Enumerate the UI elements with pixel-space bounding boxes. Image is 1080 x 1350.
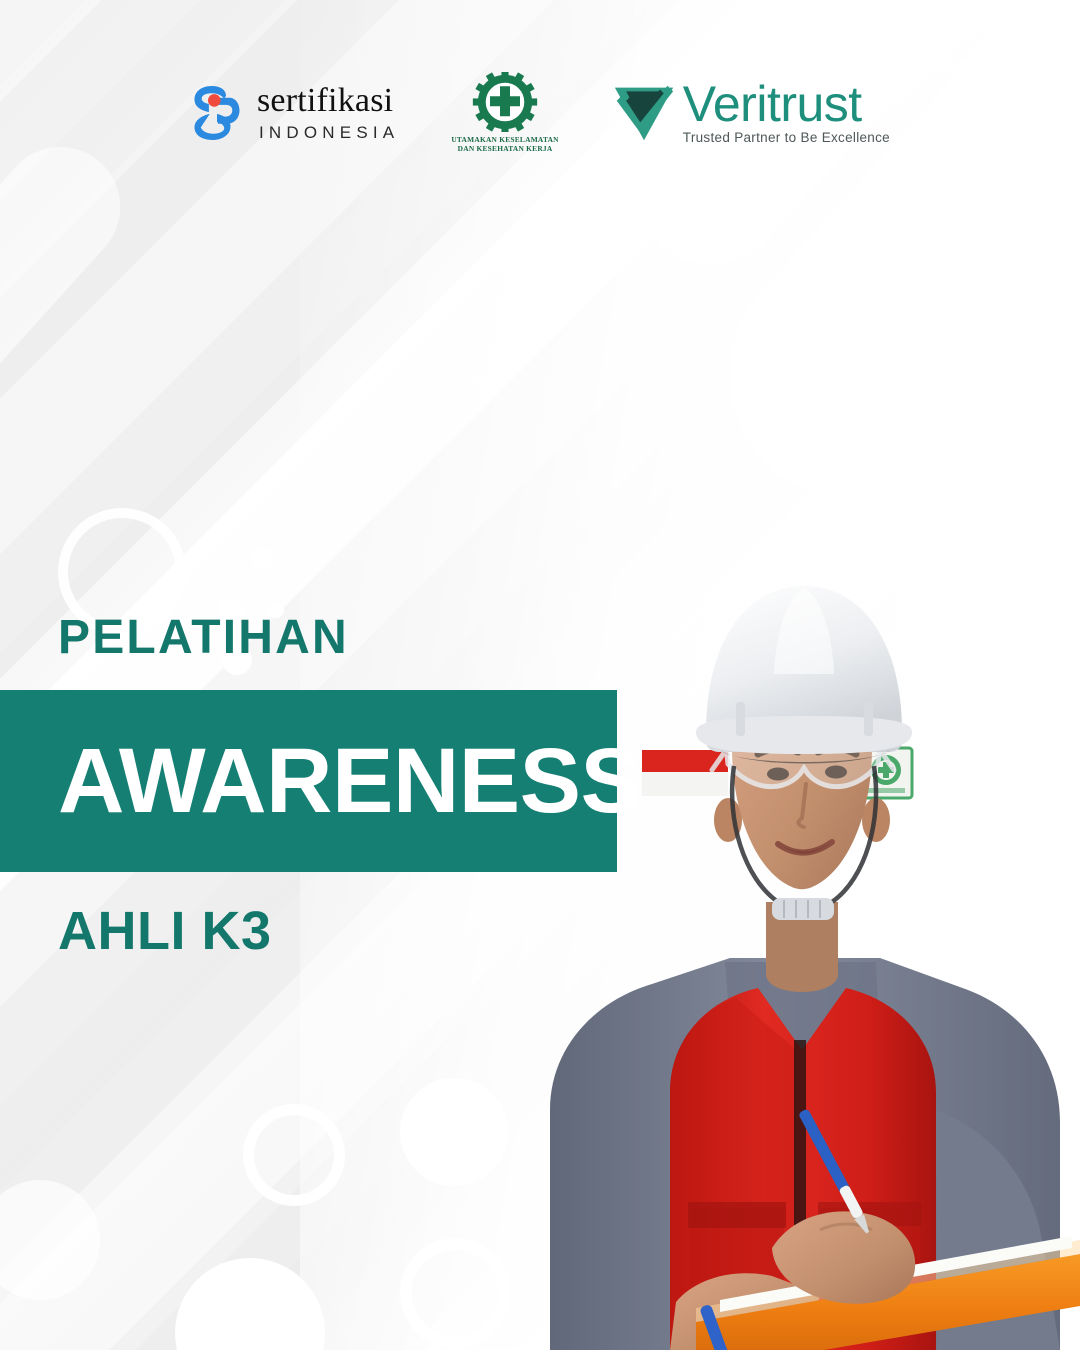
- green-title-band: AWARENESS: [0, 690, 617, 872]
- main-title: AWARENESS: [0, 735, 641, 827]
- post-title: AHLI K3: [0, 904, 1080, 958]
- logo-veritrust: Veritrust Trusted Partner to Be Excellen…: [611, 81, 890, 146]
- k3-caption: UTAMAKAN KESELAMATAN DAN KESEHATAN KERJA: [451, 135, 558, 154]
- decor-ring-bottom-1: [243, 1104, 345, 1206]
- logo-sertifikasi-indonesia: sertifikasi INDONESIA: [190, 84, 399, 142]
- headline-block: PELATIHAN AWARENESS AHLI K3: [0, 614, 1080, 958]
- k3-caption-line1: UTAMAKAN KESELAMATAN: [451, 135, 558, 144]
- s-monogram-icon: [190, 84, 244, 142]
- pre-title: PELATIHAN: [0, 614, 1080, 662]
- veritrust-wordmark: Veritrust Trusted Partner to Be Excellen…: [683, 81, 890, 146]
- decor-circle-bottom-1: [400, 1078, 508, 1186]
- sertifikasi-subtitle: INDONESIA: [257, 124, 399, 141]
- veritrust-name: Veritrust: [683, 81, 890, 129]
- decor-dot-1: [252, 548, 274, 570]
- logo-k3: UTAMAKAN KESELAMATAN DAN KESEHATAN KERJA: [451, 72, 558, 154]
- k3-gear-cross-icon: [468, 72, 542, 132]
- sertifikasi-wordmark: sertifikasi INDONESIA: [257, 84, 399, 141]
- k3-caption-line2: DAN KESEHATAN KERJA: [451, 144, 558, 153]
- poster-canvas: sertifikasi INDONESIA: [0, 0, 1080, 1350]
- decor-ring-bottom-2: [400, 1238, 510, 1348]
- logo-row: sertifikasi INDONESIA: [0, 72, 1080, 154]
- veritrust-checkmark-icon: [611, 82, 677, 144]
- veritrust-tagline: Trusted Partner to Be Excellence: [683, 130, 890, 145]
- sertifikasi-name: sertifikasi: [257, 84, 399, 118]
